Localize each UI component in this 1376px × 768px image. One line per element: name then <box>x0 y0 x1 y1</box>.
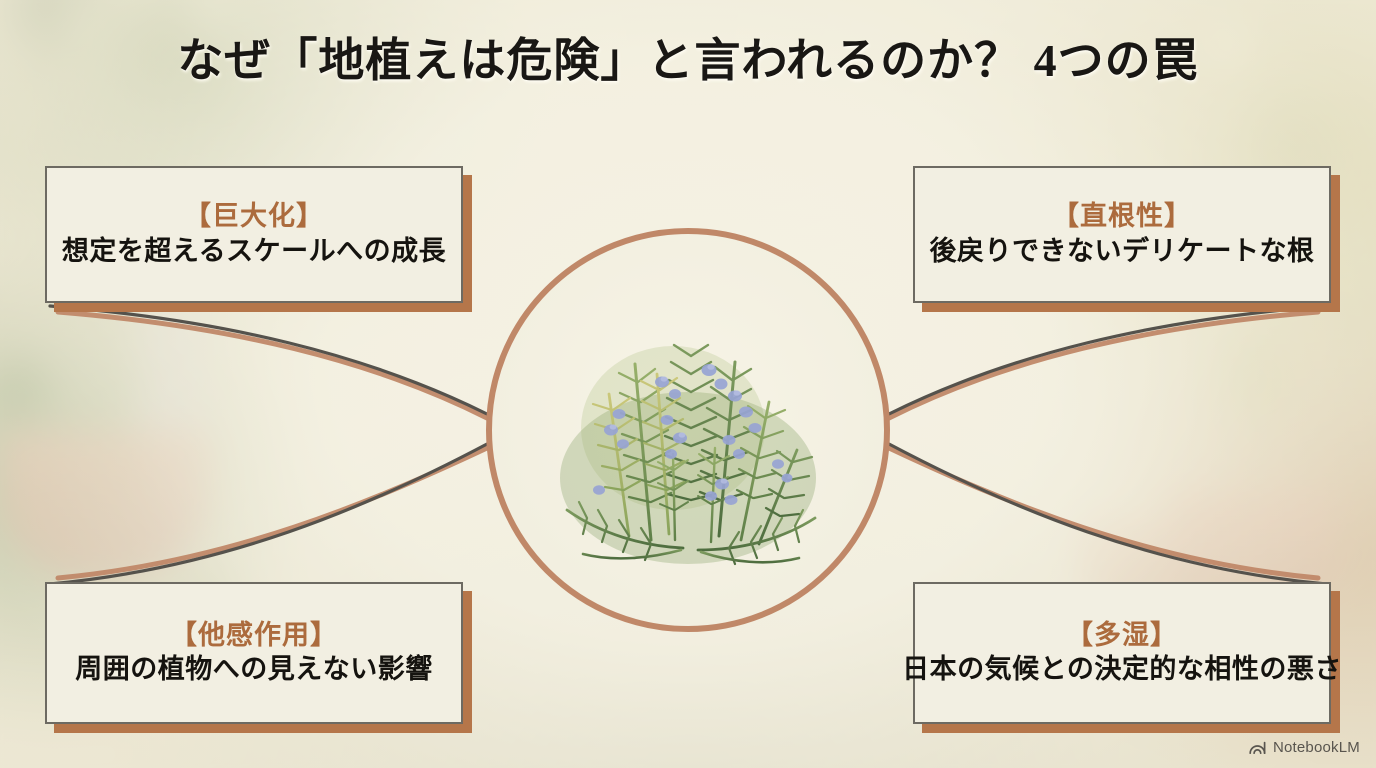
trap-card-body: 日本の気候との決定的な相性の悪さ <box>902 652 1342 687</box>
center-medallion <box>486 228 890 632</box>
trap-card-heading: 【巨大化】 <box>184 200 324 234</box>
trap-card-tashitsu[interactable]: 【多湿】 日本の気候との決定的な相性の悪さ <box>913 582 1331 724</box>
trap-card-heading: 【他感作用】 <box>170 619 338 653</box>
connector-line-br <box>889 444 1326 584</box>
trap-card-body: 周囲の植物への見えない影響 <box>75 652 433 687</box>
trap-card-chokkonsei[interactable]: 【直根性】 後戻りできないデリケートな根 <box>913 166 1331 303</box>
trap-card-body: 後戻りできないデリケートな根 <box>930 234 1315 269</box>
connector-line-tl <box>50 306 487 414</box>
trap-card-heading: 【直根性】 <box>1052 200 1192 234</box>
slide-canvas: なぜ「地植えは危険」と言われるのか？ 4つの罠 <box>0 0 1376 768</box>
notebooklm-spiral-icon <box>1248 740 1267 755</box>
connector-shadow-bl <box>58 448 487 578</box>
trap-card-kyodaika[interactable]: 【巨大化】 想定を超えるスケールへの成長 <box>45 166 463 303</box>
connector-shadow-tr <box>889 312 1318 418</box>
connector-shadow-br <box>889 448 1318 578</box>
notebooklm-watermark: NotebookLM <box>1248 739 1360 756</box>
connector-line-tr <box>889 306 1326 414</box>
trap-card-takansayo[interactable]: 【他感作用】 周囲の植物への見えない影響 <box>45 582 463 724</box>
trap-card-body: 想定を超えるスケールへの成長 <box>62 234 446 269</box>
trap-card-heading: 【多湿】 <box>1066 619 1178 653</box>
connector-line-bl <box>50 444 487 584</box>
connector-shadow-tl <box>58 312 487 418</box>
notebooklm-label: NotebookLM <box>1273 739 1360 756</box>
rosemary-bush-illustration <box>523 278 853 598</box>
